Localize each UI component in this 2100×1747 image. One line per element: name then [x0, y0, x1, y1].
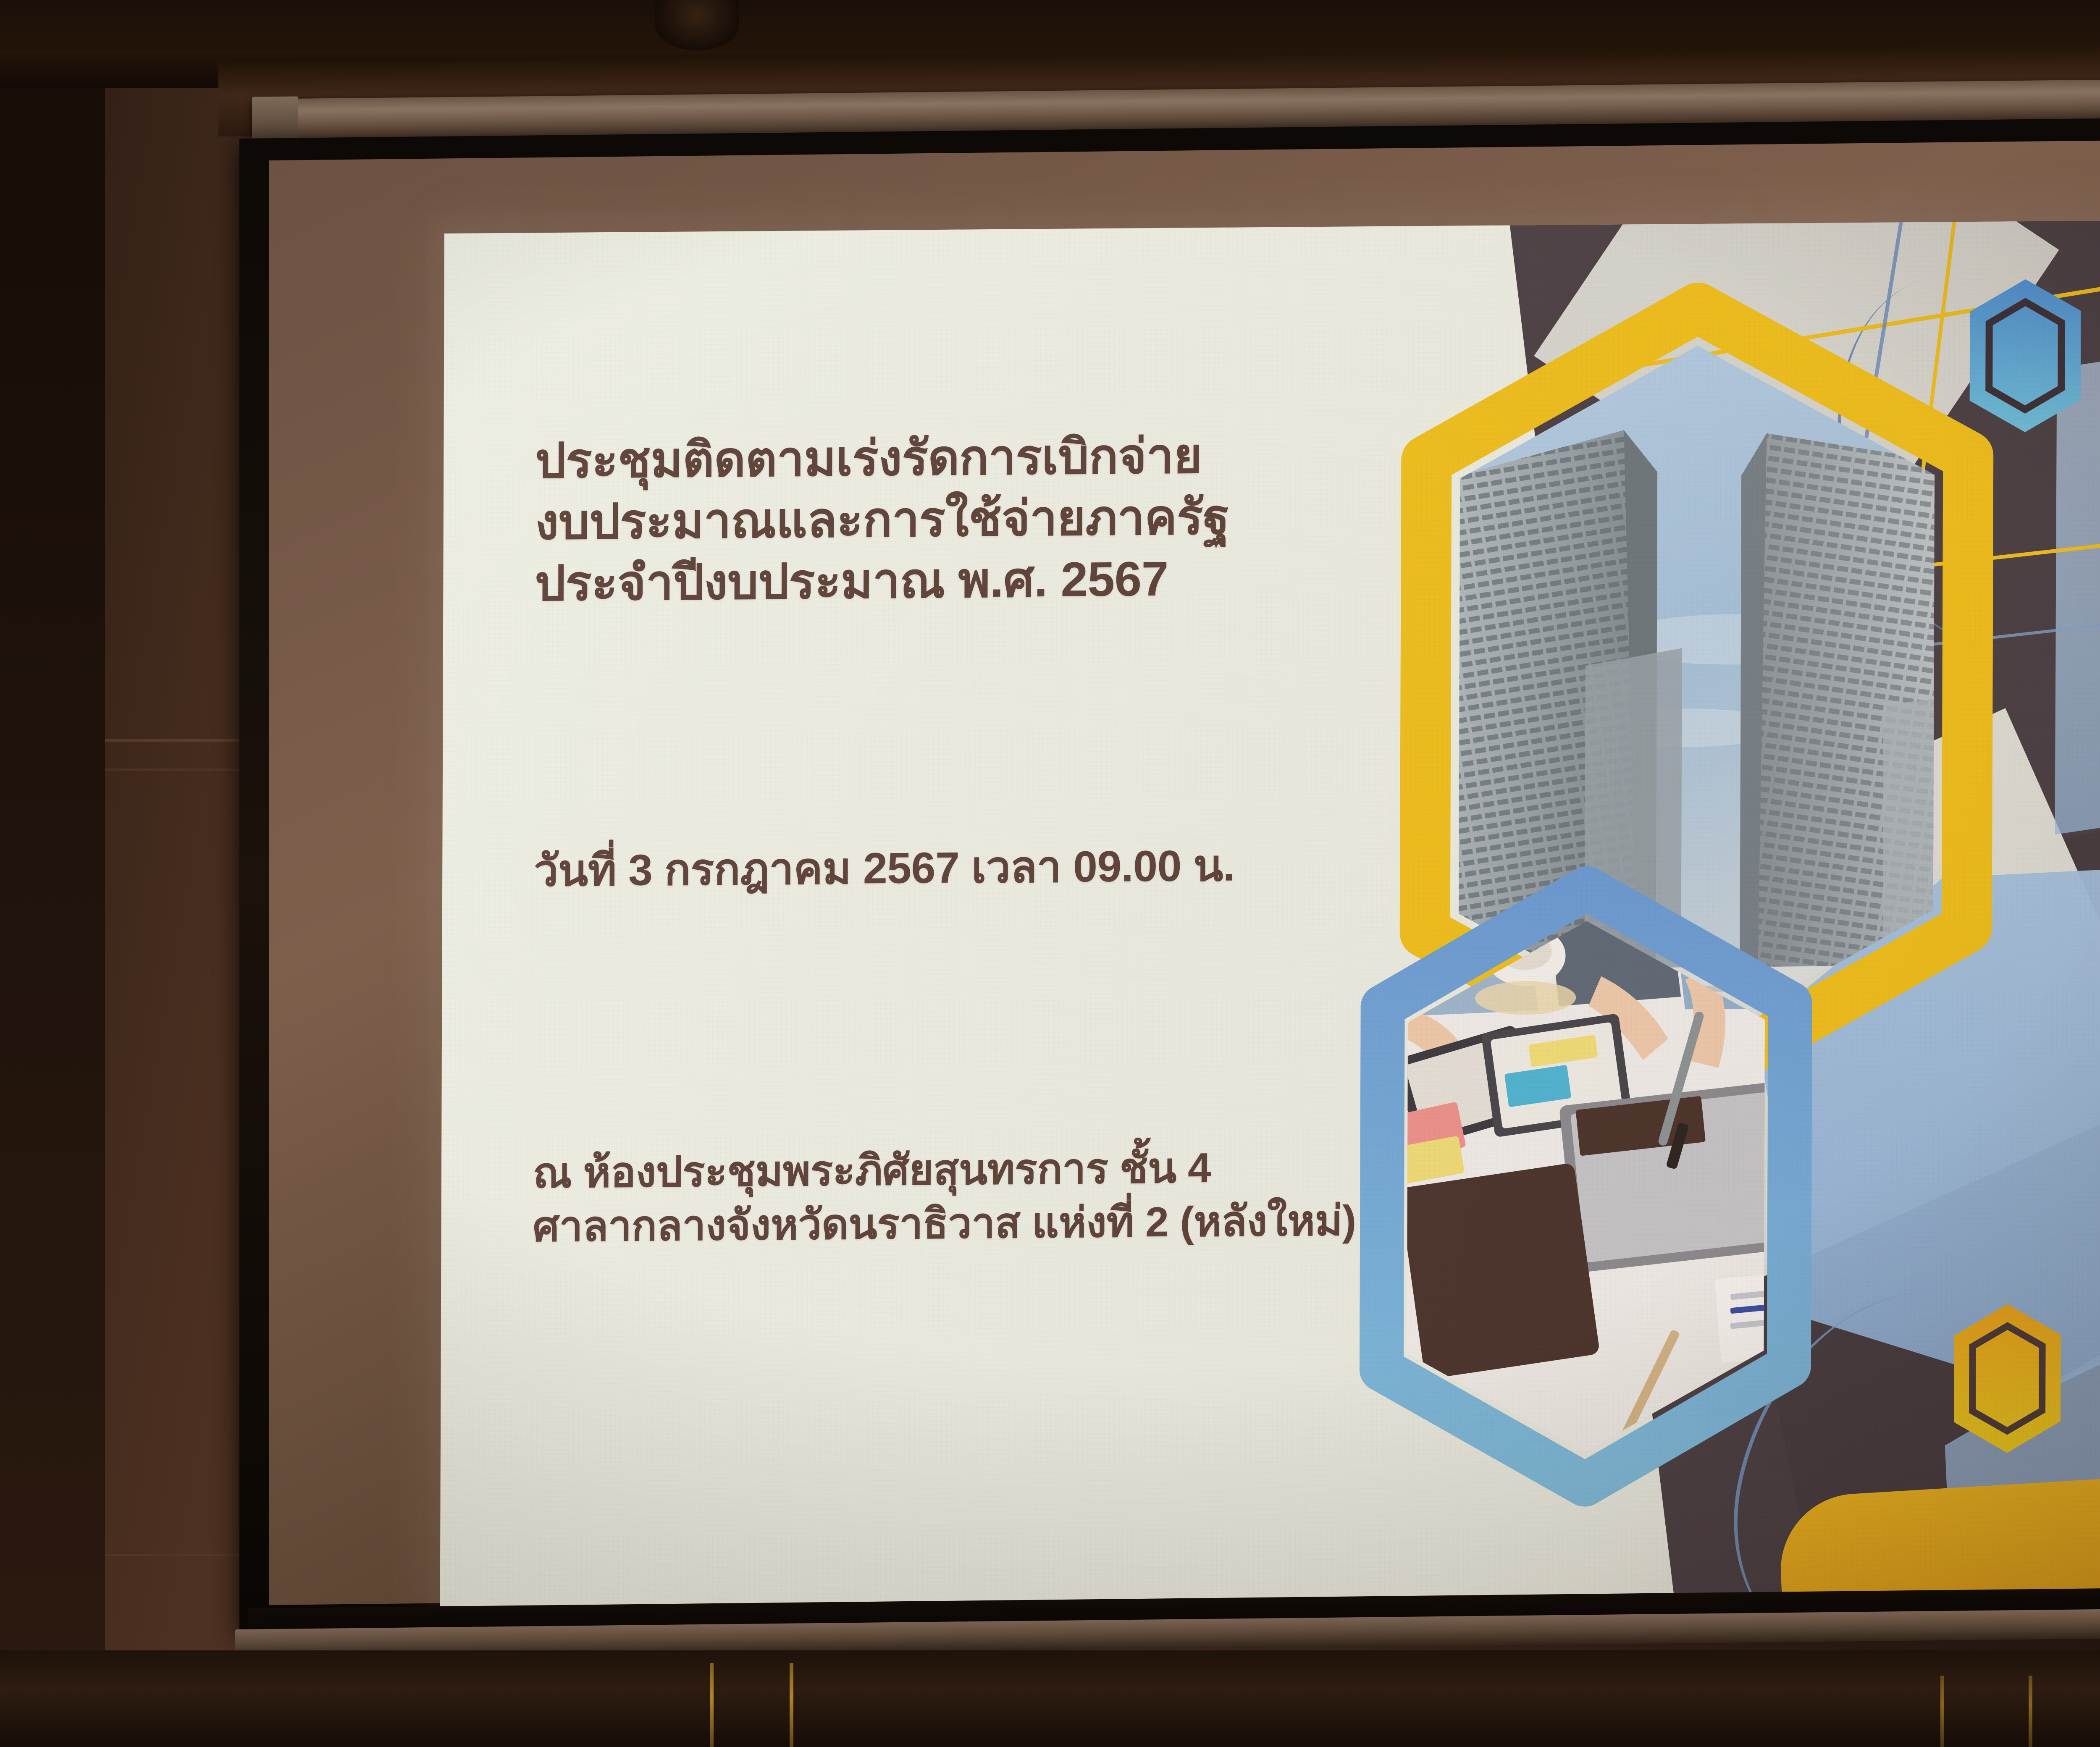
slide-datetime: วันที่ 3 กรกฎาคม 2567 เวลา 09.00 น.: [534, 839, 1235, 899]
meeting-photo-hexagon: [1347, 870, 1824, 1503]
gold-trim-line: [2029, 1676, 2032, 1747]
projected-slide: ประชุมติดตามเร่งรัดการเบิกจ่าย งบประมาณแ…: [440, 220, 2100, 1607]
slide-venue: ณ ห้องประชุมพระภิศัยสุนทรการ ชั้น 4 ศาลา…: [533, 1140, 1356, 1254]
ceiling-vent: [655, 0, 739, 50]
gold-trim-line: [790, 1663, 793, 1747]
title-line-2: งบประมาณและการใช้จ่ายภาครัฐ: [535, 486, 1230, 553]
venue-line-2: ศาลากลางจังหวัดนราธิวาส แห่งที่ 2 (หลังใ…: [533, 1194, 1356, 1254]
wall-panel-left: [0, 88, 105, 1747]
lower-wall: [0, 1650, 2100, 1747]
datetime-line: วันที่ 3 กรกฎาคม 2567 เวลา 09.00 น.: [534, 839, 1235, 899]
title-line-1: ประชุมติดตามเร่งรัดการเบิกจ่าย: [535, 425, 1230, 492]
title-line-3: ประจำปีงบประมาณ พ.ศ. 2567: [535, 548, 1229, 614]
meeting-room-background: ประชุมติดตามเร่งรัดการเบิกจ่าย งบประมาณแ…: [0, 0, 2100, 1747]
hexagon-outline-accent-icon: [1946, 1300, 2068, 1456]
venue-line-1: ณ ห้องประชุมพระภิศัยสุนทรการ ชั้น 4: [533, 1140, 1357, 1200]
slide-title: ประชุมติดตามเร่งรัดการเบิกจ่าย งบประมาณแ…: [535, 425, 1230, 614]
slide-text-column: ประชุมติดตามเร่งรัดการเบิกจ่าย งบประมาณแ…: [532, 226, 1452, 1606]
gold-trim-line: [710, 1663, 714, 1747]
gold-trim-line: [1940, 1676, 1944, 1747]
